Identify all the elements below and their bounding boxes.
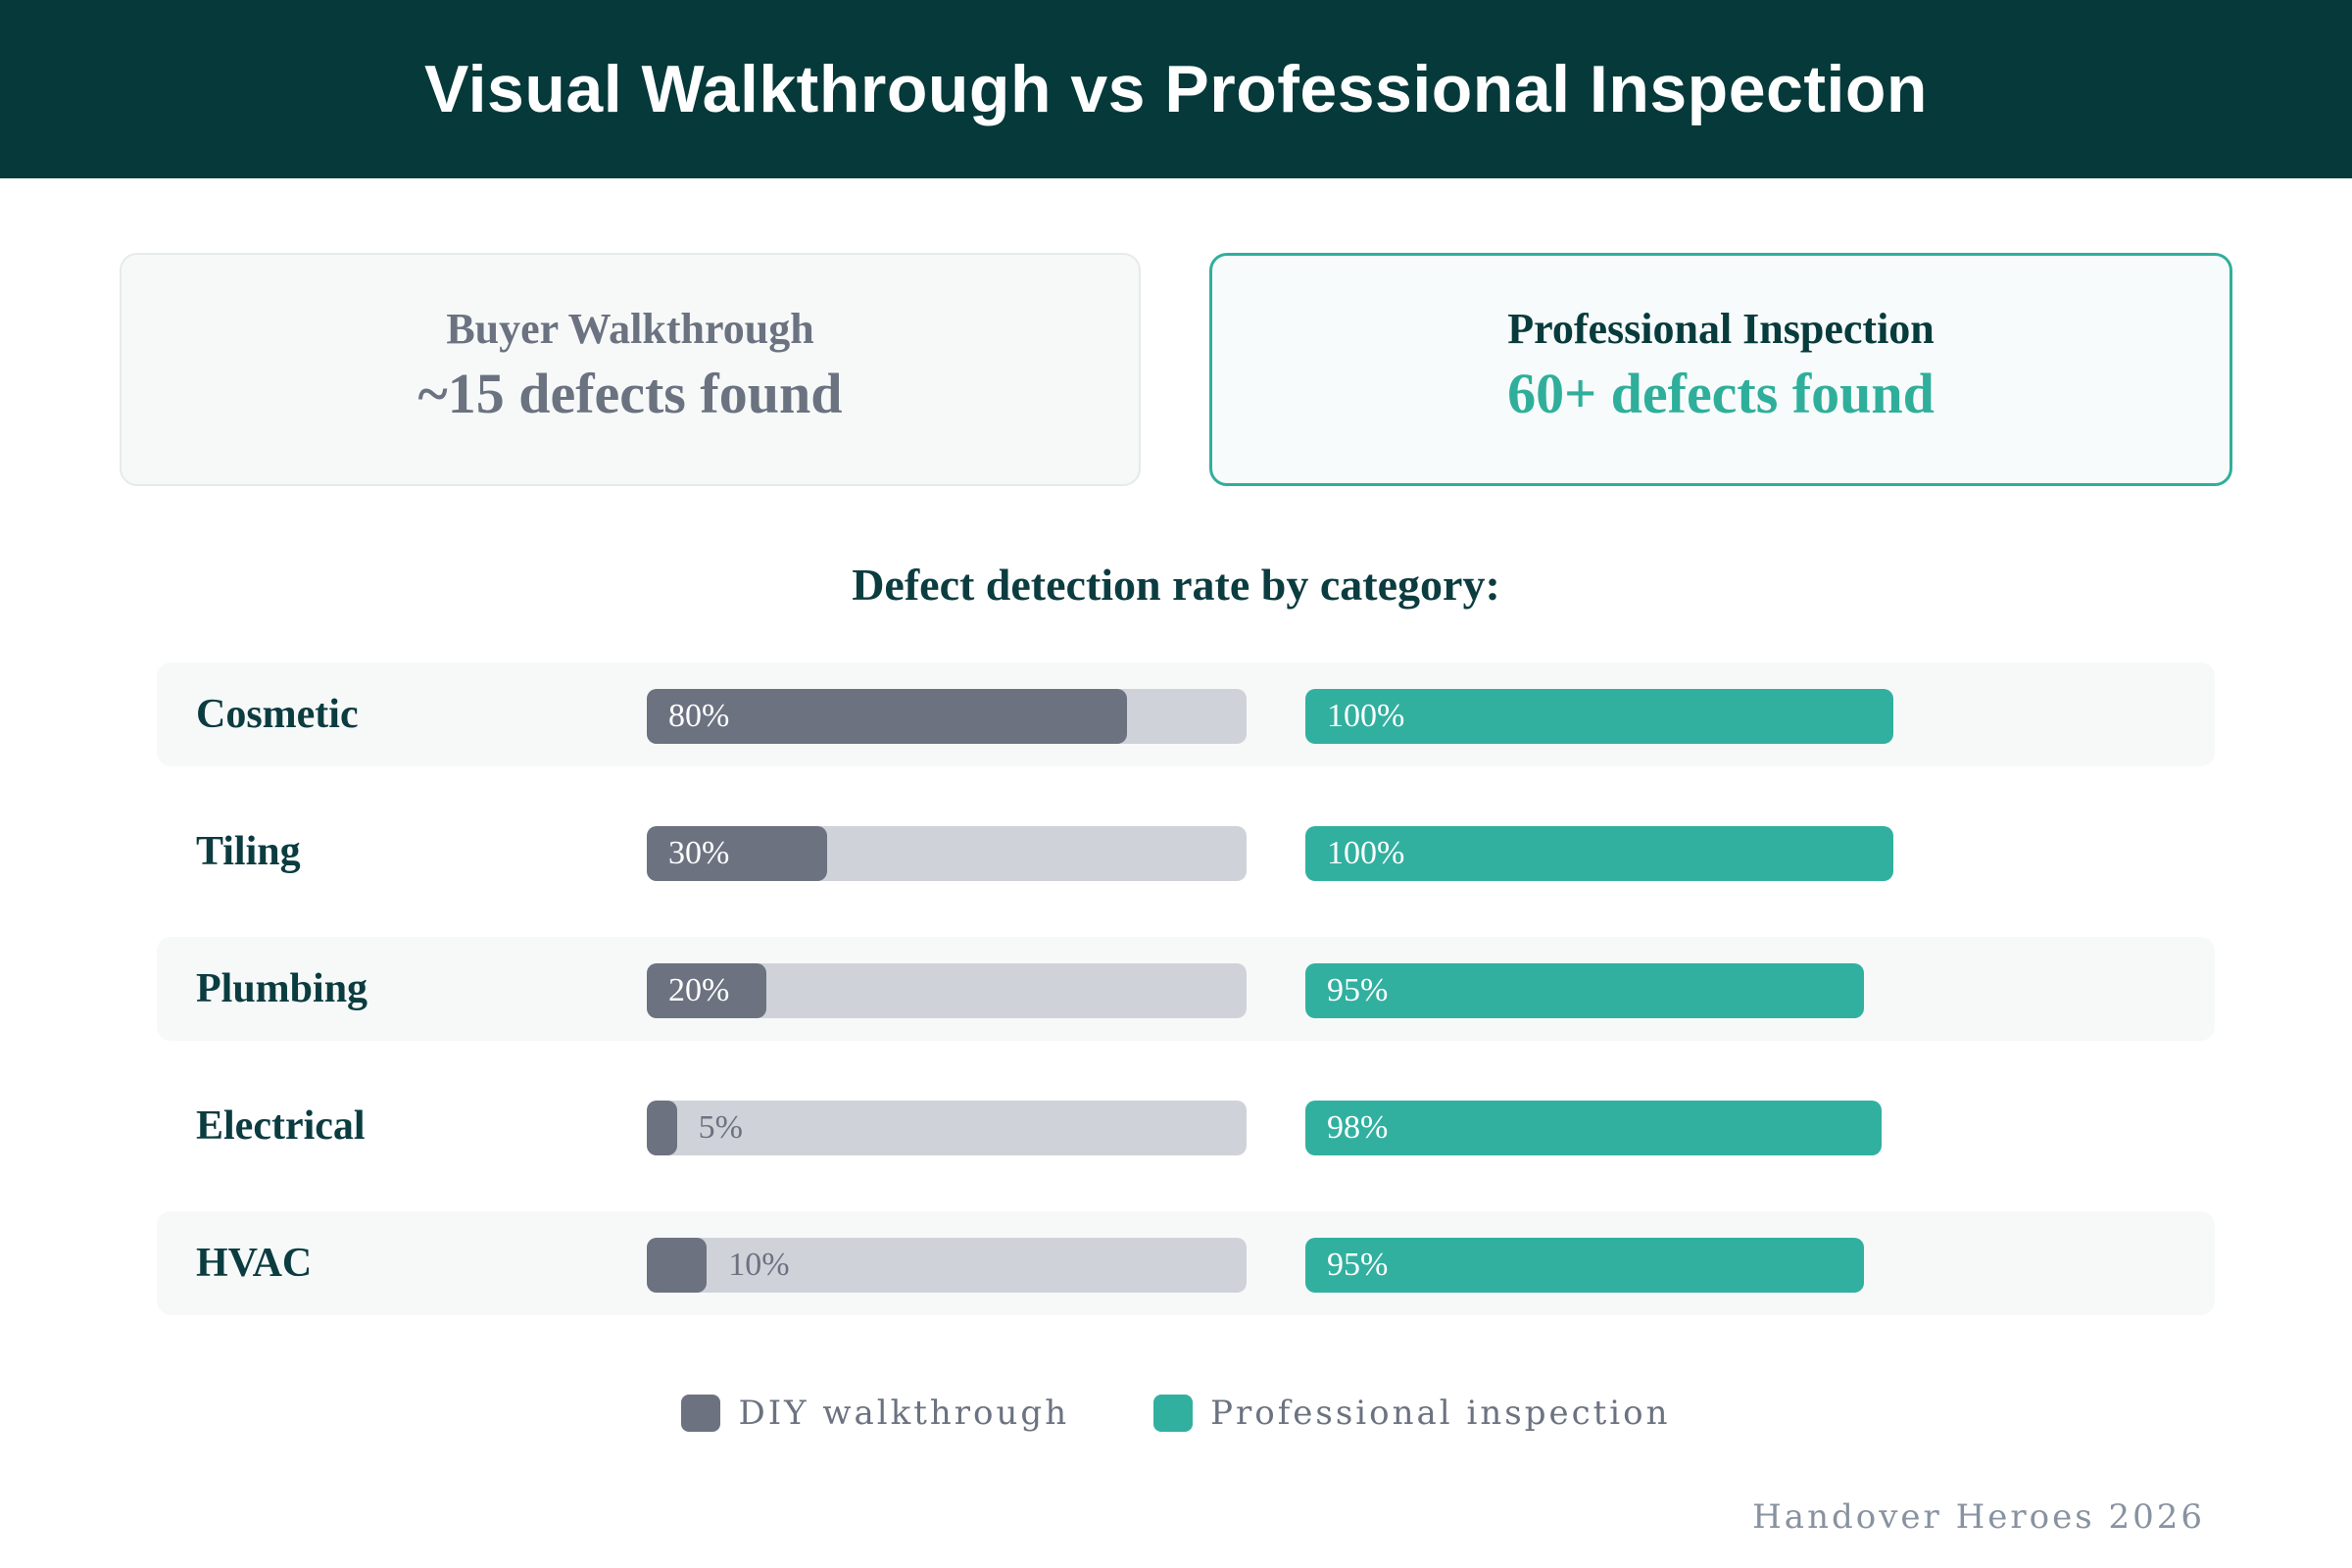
- chart-heading: Defect detection rate by category:: [0, 559, 2352, 611]
- diy-bar-fill: [647, 1101, 677, 1155]
- diy-bar-value: 30%: [668, 826, 729, 881]
- pro-bar-value: 100%: [1327, 826, 1404, 881]
- diy-bar-track: 5%: [647, 1101, 1247, 1155]
- diy-bar-value: 10%: [728, 1238, 789, 1293]
- pro-bar-value: 98%: [1327, 1101, 1388, 1155]
- category-label: Electrical: [157, 1102, 647, 1150]
- legend-item: DIY walkthrough: [681, 1394, 1069, 1433]
- table-row: Cosmetic80%100%: [157, 662, 2215, 766]
- table-row: Plumbing20%95%: [157, 937, 2215, 1041]
- defect-rate-chart: Cosmetic80%100%Tiling30%100%Plumbing20%9…: [157, 662, 2215, 1348]
- card-value: ~15 defects found: [418, 361, 843, 427]
- pro-bar-track: 95%: [1305, 1238, 1893, 1293]
- pro-bar-fill: [1305, 963, 1864, 1018]
- category-label: Tiling: [157, 828, 647, 875]
- bar-group: 30%100%: [647, 800, 2215, 904]
- diy-bar-track: 30%: [647, 826, 1247, 881]
- footer-credit: Handover Heroes 2026: [1752, 1497, 2205, 1537]
- legend-item: Professional inspection: [1153, 1394, 1670, 1433]
- diy-bar-track: 20%: [647, 963, 1247, 1018]
- bar-group: 20%95%: [647, 937, 2215, 1041]
- header-bar: Visual Walkthrough vs Professional Inspe…: [0, 0, 2352, 178]
- pro-bar-track: 98%: [1305, 1101, 1893, 1155]
- pro-bar-track: 95%: [1305, 963, 1893, 1018]
- bar-group: 80%100%: [647, 662, 2215, 766]
- legend-label: Professional inspection: [1210, 1394, 1670, 1433]
- pro-bar-track: 100%: [1305, 826, 1893, 881]
- pro-bar-fill: [1305, 1101, 1882, 1155]
- table-row: HVAC10%95%: [157, 1211, 2215, 1315]
- diy-bar-value: 5%: [699, 1101, 743, 1155]
- pro-bar-track: 100%: [1305, 689, 1893, 744]
- diy-bar-fill: [647, 1238, 707, 1293]
- category-label: Cosmetic: [157, 691, 647, 738]
- category-label: HVAC: [157, 1240, 647, 1287]
- card-professional-inspection[interactable]: Professional Inspection 60+ defects foun…: [1209, 253, 2232, 486]
- chart-legend: DIY walkthroughProfessional inspection: [0, 1394, 2352, 1433]
- card-value: 60+ defects found: [1507, 361, 1935, 427]
- card-label: Professional Inspection: [1507, 304, 1935, 355]
- table-row: Tiling30%100%: [157, 800, 2215, 904]
- pro-bar-value: 95%: [1327, 963, 1388, 1018]
- legend-swatch-icon: [681, 1395, 720, 1432]
- category-label: Plumbing: [157, 965, 647, 1012]
- pro-bar-value: 95%: [1327, 1238, 1388, 1293]
- pro-bar-value: 100%: [1327, 689, 1404, 744]
- diy-bar-value: 20%: [668, 963, 729, 1018]
- bar-group: 5%98%: [647, 1074, 2215, 1178]
- pro-bar-fill: [1305, 1238, 1864, 1293]
- legend-swatch-icon: [1153, 1395, 1193, 1432]
- card-label: Buyer Walkthrough: [446, 304, 813, 355]
- page-title: Visual Walkthrough vs Professional Inspe…: [424, 51, 1928, 127]
- bar-group: 10%95%: [647, 1211, 2215, 1315]
- diy-bar-value: 80%: [668, 689, 729, 744]
- legend-label: DIY walkthrough: [738, 1394, 1069, 1433]
- table-row: Electrical5%98%: [157, 1074, 2215, 1178]
- card-buyer-walkthrough[interactable]: Buyer Walkthrough ~15 defects found: [120, 253, 1141, 486]
- slide-canvas: Visual Walkthrough vs Professional Inspe…: [0, 0, 2352, 1568]
- diy-bar-track: 80%: [647, 689, 1247, 744]
- comparison-cards: Buyer Walkthrough ~15 defects found Prof…: [120, 253, 2232, 486]
- diy-bar-track: 10%: [647, 1238, 1247, 1293]
